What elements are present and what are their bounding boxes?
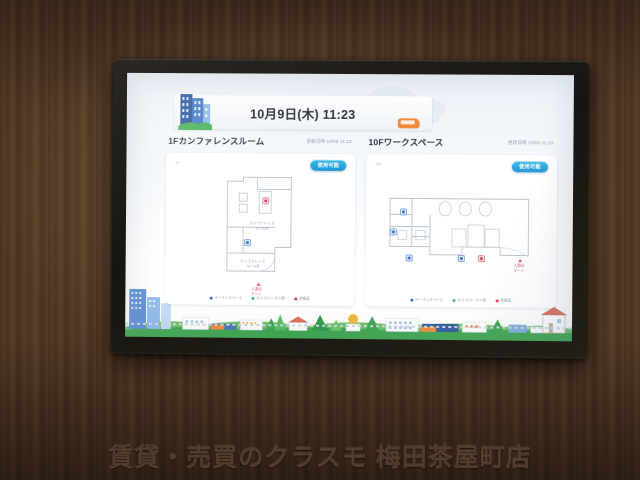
legend-workspace: オープンスペース セミクローズド席 会議室 [365, 297, 556, 304]
legend-color-dot [495, 299, 498, 302]
room-pin-available[interactable] [244, 239, 251, 246]
floor-label: 10F [375, 161, 382, 166]
room-label-b: カンファレンスルームB [220, 259, 286, 269]
entrance-gate-icon [256, 282, 260, 285]
card-updated-time: 更新日時 10/09 11:23 [508, 140, 554, 146]
card-body: 10F 使用可能 [365, 154, 557, 308]
desk-pin-available-3[interactable] [406, 254, 413, 261]
card-title: 10Fワークスペース [368, 136, 443, 149]
display-screen: 10月9日(木) 11:23 1Fカンファレンスルーム 更新日時 10/09 1… [125, 73, 574, 341]
room-label-a: カンファレンスルームA [225, 221, 299, 231]
card-workspace[interactable]: 10Fワークスペース 更新日時 10/09 11:23 10F 使用可能 [365, 136, 557, 308]
wall-signage-text: 賃貸・売買のクラスモ 梅田茶屋町店 [0, 438, 640, 474]
legend-item: セミクローズド席 [452, 298, 486, 303]
legend-conference: オープンスペース セミクローズド席 会議室 [165, 295, 354, 302]
header-datetime: 10月9日(木) 11:23 [184, 103, 422, 123]
card-header: 1Fカンファレンスルーム 更新日時 10/09 11:23 [166, 135, 355, 154]
legend-color-dot [452, 299, 455, 302]
legend-color-dot [251, 297, 254, 300]
wall-mounted-display: 10月9日(木) 11:23 1Fカンファレンスルーム 更新日時 10/09 1… [111, 59, 589, 359]
entrance-gate-label: 入退出ゲート [496, 263, 542, 273]
legend-label: セミクローズド席 [457, 298, 486, 303]
legend-item: セミクローズド席 [251, 296, 285, 301]
legend-label: 会議室 [299, 297, 310, 302]
legend-item: 会議室 [294, 296, 310, 301]
desk-pin-available-1[interactable] [400, 208, 407, 215]
legend-label: オープンスペース [214, 296, 242, 301]
entrance-gate-icon [518, 259, 522, 262]
legend-item: 会議室 [495, 298, 511, 303]
card-conference-room[interactable]: 1Fカンファレンスルーム 更新日時 10/09 11:23 1F 使用可能 [165, 135, 356, 306]
room-pin-occupied[interactable] [262, 197, 269, 204]
legend-label: セミクローズド席 [256, 296, 285, 301]
card-title: 1Fカンファレンスルーム [168, 135, 264, 148]
legend-item: オープンスペース [410, 298, 443, 303]
card-body: 1F 使用可能 [165, 153, 355, 306]
legend-color-dot [209, 297, 212, 300]
legend-item: オープンスペース [209, 296, 242, 301]
legend-color-dot [294, 297, 297, 300]
room-scene: 10月9日(木) 11:23 1Fカンファレンスルーム 更新日時 10/09 1… [0, 0, 640, 480]
desk-pin-available-4[interactable] [458, 255, 465, 262]
legend-color-dot [410, 298, 413, 301]
card-updated-time: 更新日時 10/09 11:23 [306, 139, 351, 145]
desk-pin-occupied-1[interactable] [478, 255, 485, 262]
signage-page: 10月9日(木) 11:23 1Fカンファレンスルーム 更新日時 10/09 1… [125, 73, 574, 341]
status-badge[interactable]: 使用可能 [512, 161, 548, 172]
card-header: 10Fワークスペース 更新日時 10/09 11:23 [366, 136, 557, 155]
desk-pin-available-2[interactable] [390, 228, 397, 235]
status-badge[interactable]: 使用可能 [310, 160, 346, 171]
legend-label: 会議室 [500, 298, 511, 303]
legend-label: オープンスペース [415, 298, 443, 303]
floor-label: 1F [175, 160, 180, 165]
